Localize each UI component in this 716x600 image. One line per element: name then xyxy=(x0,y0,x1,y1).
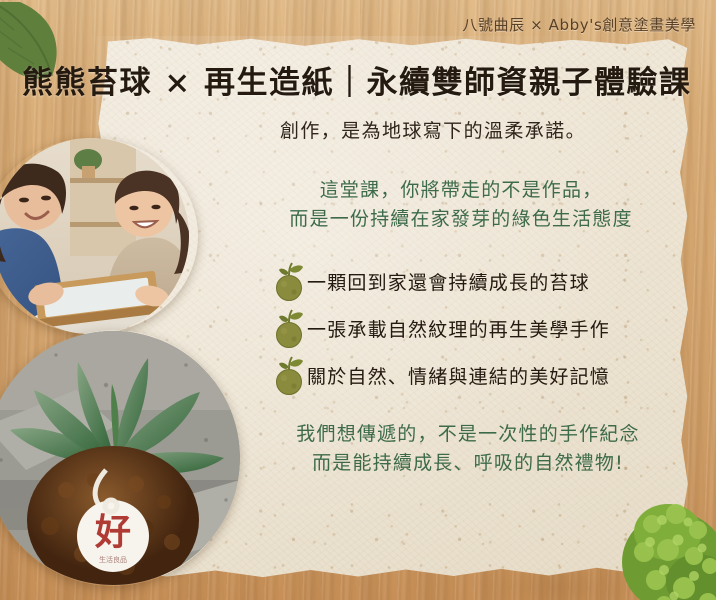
lede-text: 創作，是為地球寫下的溫柔承諾。 xyxy=(198,116,668,143)
green-intro-line2: 而是一份持續在家發芽的綠色生活態度 xyxy=(236,205,686,234)
green-intro-line1: 這堂課，你將帶走的不是作品， xyxy=(236,176,686,205)
closing-block: 我們想傳遞的，不是一次性的手作紀念 而是能持續成長、呼吸的自然禮物! xyxy=(250,420,686,479)
list-item-label: 一張承載自然紋理的再生美學手作 xyxy=(307,315,610,342)
mossball-sprout-icon xyxy=(272,356,306,396)
closing-line1: 我們想傳遞的，不是一次性的手作紀念 xyxy=(250,420,686,449)
list-item: 關於自然、情緒與連結的美好記憶 xyxy=(272,352,692,399)
closing-line2: 而是能持續成長、呼吸的自然禮物! xyxy=(250,449,686,478)
green-intro-block: 這堂課，你將帶走的不是作品， 而是一份持續在家發芽的綠色生活態度 xyxy=(236,176,686,235)
list-item: 一顆回到家還會持續成長的苔球 xyxy=(272,258,692,305)
page-title: 熊熊苔球 × 再生造紙｜永續雙師資親子體驗課 xyxy=(22,57,702,102)
list-item-label: 關於自然、情緒與連結的美好記憶 xyxy=(307,362,610,389)
benefit-list: 一顆回到家還會持續成長的苔球 一張承載自然紋理的再生美學手作 xyxy=(272,258,692,399)
mossball-sprout-icon xyxy=(272,262,306,302)
list-item: 一張承載自然紋理的再生美學手作 xyxy=(272,305,692,352)
svg-text:生活良品: 生活良品 xyxy=(99,555,127,564)
poster-canvas: 好 生活良品 八號曲辰 × Abby's創意塗畫美學 熊熊苔球 × xyxy=(0,0,716,600)
brand-line: 八號曲辰 × Abby's創意塗畫美學 xyxy=(462,14,696,35)
moss-cluster-icon xyxy=(602,470,716,600)
list-item-label: 一顆回到家還會持續成長的苔球 xyxy=(307,268,590,295)
tag-character: 好 xyxy=(94,511,131,553)
mossball-sprout-icon xyxy=(272,309,306,349)
